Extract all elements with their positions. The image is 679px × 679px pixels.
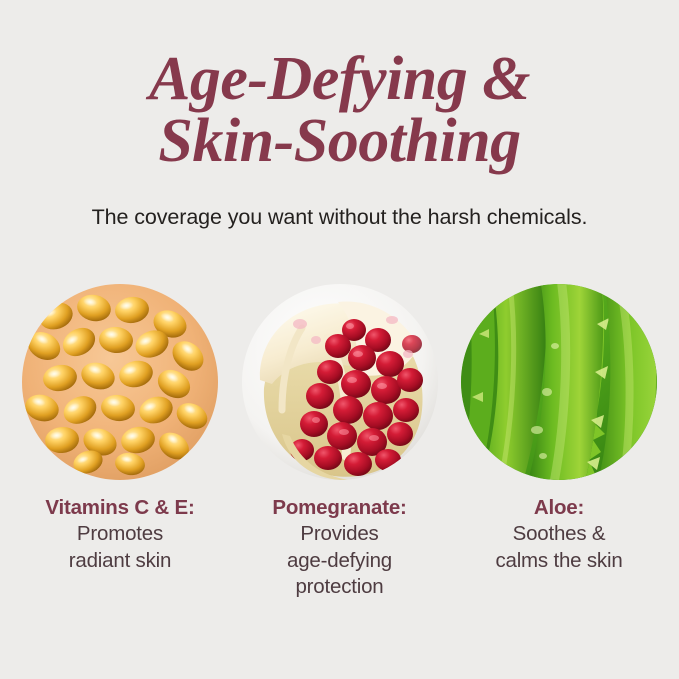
ingredient-caption-vitamins: Vitamins C & E: Promotes radiant skin bbox=[15, 495, 225, 574]
ingredient-caption-aloe: Aloe: Soothes & calms the skin bbox=[454, 495, 664, 574]
ingredient-benefits-infographic: Age-Defying & Skin-Soothing The coverage… bbox=[0, 0, 679, 679]
aloe-vera-leaves-photo bbox=[461, 284, 657, 480]
ingredient-columns: Vitamins C & E: Promotes radiant skin bbox=[0, 284, 679, 601]
vitamin-softgel-capsules-photo bbox=[22, 284, 218, 480]
ingredient-title-aloe: Aloe: bbox=[454, 495, 664, 521]
ingredient-body-pomegranate: Provides age-defying protection bbox=[235, 521, 445, 601]
ingredient-body-line: radiant skin bbox=[15, 548, 225, 575]
ingredient-caption-pomegranate: Pomegranate: Provides age-defying protec… bbox=[235, 495, 445, 601]
ingredient-body-line: age-defying bbox=[235, 548, 445, 575]
ingredient-column-vitamins: Vitamins C & E: Promotes radiant skin bbox=[22, 284, 218, 601]
ingredient-column-pomegranate: Pomegranate: Provides age-defying protec… bbox=[242, 284, 438, 601]
page-title: Age-Defying & Skin-Soothing bbox=[0, 48, 679, 172]
ingredient-title-vitamins: Vitamins C & E: bbox=[15, 495, 225, 521]
ingredient-body-line: calms the skin bbox=[454, 548, 664, 575]
page-title-line-1: Age-Defying & bbox=[0, 48, 679, 110]
ingredient-title-pomegranate: Pomegranate: bbox=[235, 495, 445, 521]
ingredient-body-line: Soothes & bbox=[454, 521, 664, 548]
page-subtitle: The coverage you want without the harsh … bbox=[0, 203, 679, 231]
ingredient-body-aloe: Soothes & calms the skin bbox=[454, 521, 664, 574]
ingredient-column-aloe: Aloe: Soothes & calms the skin bbox=[461, 284, 657, 601]
page-title-line-2: Skin-Soothing bbox=[0, 110, 679, 172]
ingredient-body-line: Provides bbox=[235, 521, 445, 548]
pomegranate-fruit-photo bbox=[242, 284, 438, 480]
ingredient-body-line: protection bbox=[235, 574, 445, 601]
ingredient-body-line: Promotes bbox=[15, 521, 225, 548]
ingredient-body-vitamins: Promotes radiant skin bbox=[15, 521, 225, 574]
